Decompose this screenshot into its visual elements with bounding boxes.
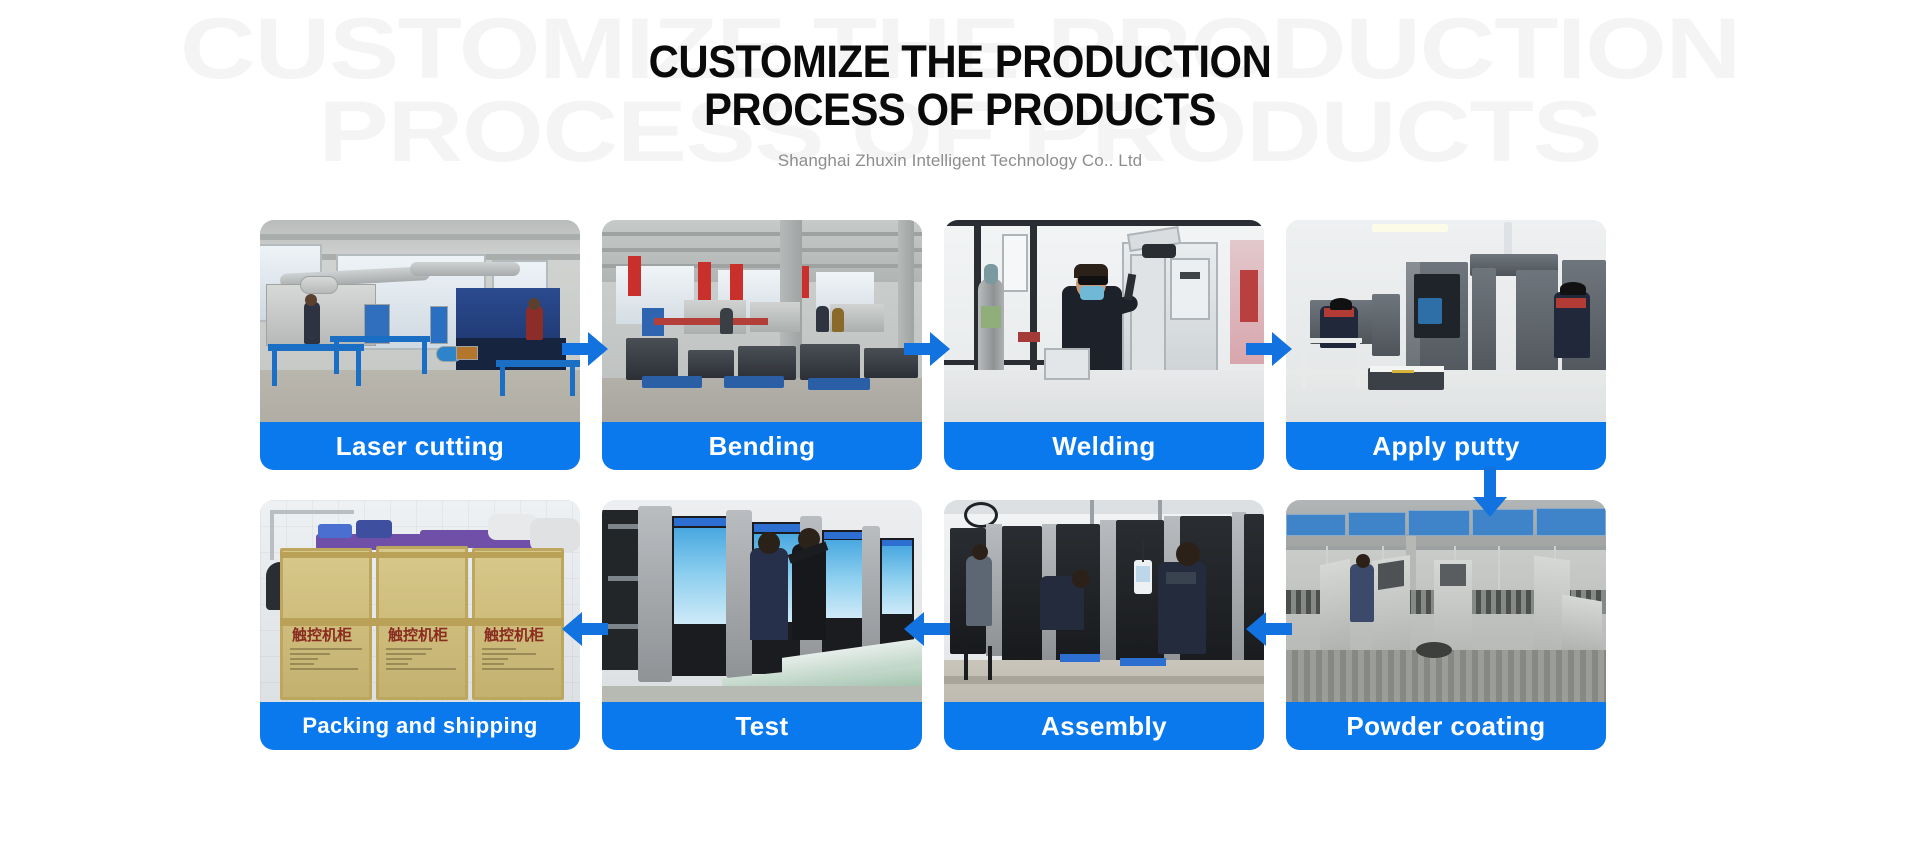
arrow-right-icon-3 (1246, 332, 1292, 366)
page-title: CUSTOMIZE THE PRODUCTION PROCESS OF PROD… (67, 38, 1853, 134)
card-label: Powder coating (1286, 702, 1606, 750)
arrow-right-icon-2 (904, 332, 950, 366)
process-card-powder-coating[interactable]: Powder coating (1286, 500, 1606, 750)
arrow-left-icon-3 (1246, 612, 1292, 646)
process-grid: Laser cutting (260, 220, 1660, 750)
arrow-right-icon-1 (562, 332, 608, 366)
arrow-down-icon (1473, 467, 1507, 517)
card-label: Assembly (944, 702, 1264, 750)
card-label: Bending (602, 422, 922, 470)
process-card-laser-cutting[interactable]: Laser cutting (260, 220, 580, 470)
company-subtitle: Shanghai Zhuxin Intelligent Technology C… (0, 151, 1920, 171)
card-label: Laser cutting (260, 422, 580, 470)
process-row-1: Laser cutting (260, 220, 1660, 470)
process-infographic-page: CUSTOMIZE THE PRODUCTION PROCESS OF PROD… (0, 0, 1920, 860)
process-row-2: 触控机柜 触控机柜 触控机柜 Packing and shipping (260, 500, 1660, 750)
card-label: Packing and shipping (260, 702, 580, 750)
process-card-welding[interactable]: Welding (944, 220, 1264, 470)
process-card-test[interactable]: Test (602, 500, 922, 750)
page-header: CUSTOMIZE THE PRODUCTION PROCESS OF PROD… (0, 0, 1920, 215)
process-card-bending[interactable]: Bending (602, 220, 922, 470)
arrow-left-icon-2 (904, 612, 950, 646)
process-card-packing-and-shipping[interactable]: 触控机柜 触控机柜 触控机柜 Packing and shipping (260, 500, 580, 750)
process-card-assembly[interactable]: Assembly (944, 500, 1264, 750)
card-label: Welding (944, 422, 1264, 470)
process-card-apply-putty[interactable]: Apply putty (1286, 220, 1606, 470)
card-label: Test (602, 702, 922, 750)
arrow-left-icon-1 (562, 612, 608, 646)
card-label: Apply putty (1286, 422, 1606, 470)
